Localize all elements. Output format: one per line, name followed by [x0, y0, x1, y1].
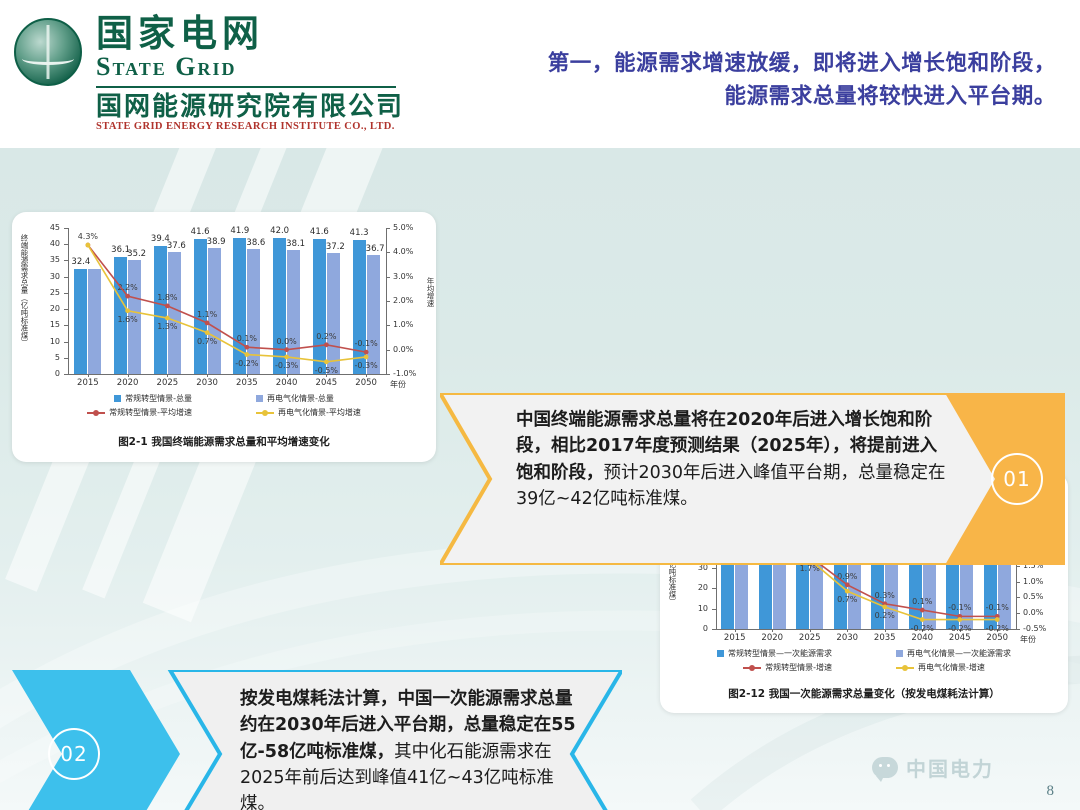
- x-axis-tick-label: 2045: [940, 634, 980, 643]
- legend-line-icon: [743, 667, 761, 669]
- y-axis-tick-label: 0: [38, 370, 60, 378]
- chart-bar-label: 41.9: [223, 227, 257, 236]
- chart-bar-electrification: [287, 250, 300, 374]
- chart-growth-label-electrification: -0.3%: [349, 362, 383, 370]
- chart-bar-label: 41.6: [302, 228, 336, 237]
- y-axis-tick-label: 35: [38, 256, 60, 264]
- chart-bar-conventional: [154, 246, 167, 374]
- y2-axis-tick: [1016, 582, 1020, 583]
- y2-axis-tick: [1016, 597, 1020, 598]
- chart-bar-label: 41.6: [183, 228, 217, 237]
- legend-row-bars: 常规转型情景—一次能源需求再电气化情景—一次能源需求: [660, 648, 1068, 659]
- legend-item[interactable]: 再电气化情景-总量: [256, 393, 334, 404]
- x-axis-tick-label: 2035: [865, 634, 905, 643]
- chart-bar-label: 32.4: [64, 258, 98, 267]
- y2-axis-tick-label: 0.0%: [393, 346, 419, 354]
- y2-axis-tick-label: 1.0%: [1023, 578, 1049, 586]
- y2-axis-tick-label: 5.0%: [393, 224, 419, 232]
- x-axis-tick-label: 2015: [715, 634, 755, 643]
- y-axis-tick-label: 20: [38, 305, 60, 313]
- legend-label: 再电气化情景-增速: [918, 662, 985, 673]
- y2-axis-tick: [386, 277, 390, 278]
- legend-line-icon: [256, 412, 274, 414]
- chart2-legend: 常规转型情景—一次能源需求再电气化情景—一次能源需求常规转型情景-增速再电气化情…: [660, 645, 1068, 673]
- y-axis-tick-label: 15: [38, 321, 60, 329]
- legend-label: 常规转型情景—一次能源需求: [728, 648, 832, 659]
- legend-item[interactable]: 再电气化情景—一次能源需求: [896, 648, 1011, 659]
- legend-line-icon: [87, 412, 105, 414]
- x-axis-tick: [885, 629, 886, 632]
- chart2-caption: 图2-12 我国一次能源需求总量变化（按发电煤耗法计算）: [660, 686, 1068, 701]
- legend-row-bars: 常规转型情景-总量再电气化情景-总量: [12, 393, 436, 404]
- chart1-legend: 常规转型情景-总量再电气化情景-总量常规转型情景-平均增速再电气化情景-平均增速: [12, 390, 436, 418]
- x-axis-tick-label: 2050: [977, 634, 1017, 643]
- logo-divider: [96, 86, 396, 88]
- x-axis-tick-label: 2020: [752, 634, 792, 643]
- chart-growth-label-conventional: 1.8%: [150, 294, 184, 302]
- legend-swatch-icon: [896, 650, 903, 657]
- y2-axis-tick: [386, 301, 390, 302]
- legend-item[interactable]: 常规转型情景-总量: [114, 393, 192, 404]
- y2-axis-tick: [386, 374, 390, 375]
- x-axis-tick: [772, 629, 773, 632]
- chart-bar-electrification: [247, 249, 260, 374]
- chart-growth-label-electrification: -0.2%: [905, 625, 939, 633]
- legend-label: 再电气化情景-平均增速: [278, 407, 361, 418]
- chart-bar-label: 38.9: [199, 238, 233, 247]
- y-axis-tick: [64, 228, 68, 229]
- y2-axis-tick: [1016, 613, 1020, 614]
- chart-growth-label-electrification: -0.3%: [270, 362, 304, 370]
- y2-axis-tick-label: -0.5%: [1023, 625, 1049, 633]
- chart-bar-label: 36.7: [358, 245, 392, 254]
- chart-growth-label-electrification: -0.5%: [309, 367, 343, 375]
- chart1-caption: 图2-1 我国终端能源需求总量和平均增速变化: [12, 434, 436, 449]
- chart-growth-label-electrification: 1.6%: [111, 316, 145, 324]
- x-axis-tick: [88, 374, 89, 377]
- chart-growth-label-conventional: 0.0%: [270, 338, 304, 346]
- logo-cn-name: 国家电网: [96, 14, 404, 53]
- state-grid-emblem-icon: [14, 18, 82, 86]
- y-axis-tick-label: 0: [686, 625, 708, 633]
- chart-bar-electrification: [168, 252, 181, 374]
- y-axis-tick: [712, 609, 716, 610]
- chart-growth-label-conventional: 4.3%: [71, 233, 105, 241]
- chart-growth-label-conventional: 0.3%: [868, 592, 902, 600]
- legend-item[interactable]: 常规转型情景—一次能源需求: [717, 648, 832, 659]
- chart-growth-label-conventional: 0.2%: [309, 333, 343, 341]
- page-title-line-1: 第一，能源需求增速放缓，即将进入增长饱和阶段，: [416, 48, 1056, 81]
- legend-swatch-icon: [114, 395, 121, 402]
- x-axis-tick: [366, 374, 367, 377]
- chart-card-terminal-energy: 051015202530354045-1.0%0.0%1.0%2.0%3.0%4…: [12, 212, 436, 462]
- chart-growth-label-conventional: -0.1%: [349, 340, 383, 348]
- y-axis-tick: [64, 309, 68, 310]
- chart-growth-label-conventional: 1.1%: [190, 311, 224, 319]
- x-axis-tick: [247, 374, 248, 377]
- y-axis-tick: [64, 293, 68, 294]
- page-number: 8: [1047, 783, 1055, 800]
- callout-02-badge: 02: [48, 728, 100, 780]
- y2-axis-tick: [386, 350, 390, 351]
- x-axis-tick: [735, 629, 736, 632]
- y2-axis-tick-label: -1.0%: [393, 370, 419, 378]
- chart-growth-label-electrification: 0.7%: [830, 596, 864, 604]
- callout-02[interactable]: 按发电煤耗法计算，中国一次能源需求总量约在2030年后进入平台期，总量稳定在55…: [12, 670, 622, 810]
- chart-bar-conventional: [233, 238, 246, 374]
- x-axis-tick-label: 2025: [790, 634, 830, 643]
- callout-01-text: 中国终端能源需求总量将在2020年后进入增长饱和阶段，相比2017年度预测结果（…: [502, 399, 952, 520]
- page-title: 第一，能源需求增速放缓，即将进入增长饱和阶段， 能源需求总量将较快进入平台期。: [416, 48, 1056, 113]
- y2-axis-tick-label: 1.0%: [393, 321, 419, 329]
- x-axis-tick-label: 2035: [227, 379, 267, 388]
- chart-growth-label-electrification: 1.7%: [793, 565, 827, 573]
- legend-item[interactable]: 常规转型情景-增速: [743, 662, 832, 673]
- legend-label: 常规转型情景-平均增速: [109, 407, 192, 418]
- chart-bar-label: 38.1: [279, 240, 313, 249]
- y-axis-tick-label: 5: [38, 354, 60, 362]
- legend-swatch-icon: [717, 650, 724, 657]
- watermark-label: 中国电力: [906, 753, 994, 782]
- x-axis-title: 年份: [390, 379, 406, 390]
- chart-growth-label-conventional: 0.1%: [230, 335, 264, 343]
- chart-growth-label-conventional: 0.9%: [830, 573, 864, 581]
- y-axis-tick: [712, 568, 716, 569]
- watermark: 中国电力: [872, 753, 994, 782]
- x-axis-tick-label: 2050: [346, 379, 386, 388]
- x-axis-tick: [810, 629, 811, 632]
- legend-label: 再电气化情景-总量: [267, 393, 334, 404]
- legend-line-icon: [896, 667, 914, 669]
- x-axis-tick-label: 2020: [108, 379, 148, 388]
- y-axis-tick: [64, 358, 68, 359]
- y-axis-tick: [64, 374, 68, 375]
- chart-bar-conventional: [74, 269, 87, 374]
- chart-growth-label-conventional: -0.1%: [980, 604, 1014, 612]
- chart-bar-conventional: [313, 239, 326, 374]
- chart-growth-label-conventional: 2.2%: [111, 284, 145, 292]
- chart-growth-label-electrification: -0.2%: [230, 360, 264, 368]
- logo-institute-en: STATE GRID ENERGY RESEARCH INSTITUTE CO.…: [96, 121, 404, 134]
- y2-axis-tick: [386, 228, 390, 229]
- x-axis-tick-label: 2045: [306, 379, 346, 388]
- y2-axis-tick-label: 2.0%: [393, 297, 419, 305]
- y-axis-tick-label: 45: [38, 224, 60, 232]
- slide-header: 国家电网 State Grid 国网能源研究院有限公司 STATE GRID E…: [0, 0, 1080, 148]
- x-axis-tick: [847, 629, 848, 632]
- legend-item[interactable]: 常规转型情景-平均增速: [87, 407, 192, 418]
- chart-growth-label-conventional: 0.1%: [905, 598, 939, 606]
- y2-axis-tick: [386, 325, 390, 326]
- x-axis-tick: [287, 374, 288, 377]
- chart-growth-label-electrification: 0.2%: [868, 612, 902, 620]
- callout-01[interactable]: 中国终端能源需求总量将在2020年后进入增长饱和阶段，相比2017年度预测结果（…: [440, 393, 1065, 565]
- y2-axis-tick: [1016, 629, 1020, 630]
- state-grid-logo: 国家电网 State Grid 国网能源研究院有限公司 STATE GRID E…: [14, 14, 404, 134]
- x-axis-tick: [167, 374, 168, 377]
- y-axis-tick: [64, 325, 68, 326]
- chart-bar-conventional: [273, 238, 286, 374]
- x-axis-tick: [207, 374, 208, 377]
- y-axis-tick: [712, 588, 716, 589]
- y-axis-tick: [64, 277, 68, 278]
- y-axis-tick-label: 10: [686, 605, 708, 613]
- callout-01-badge: 01: [991, 453, 1043, 505]
- y-axis-tick-label: 25: [38, 289, 60, 297]
- legend-label: 常规转型情景-总量: [125, 393, 192, 404]
- logo-institute-cn: 国网能源研究院有限公司: [96, 93, 404, 122]
- y2-axis-tick-label: 0.5%: [1023, 593, 1049, 601]
- chart-growth-label-electrification: -0.2%: [943, 625, 977, 633]
- chart-bar-conventional: [353, 240, 366, 374]
- chart-bar-label: 38.6: [239, 239, 273, 248]
- chart1-plot-area: 051015202530354045-1.0%0.0%1.0%2.0%3.0%4…: [12, 212, 436, 462]
- y2-axis-tick-label: 4.0%: [393, 248, 419, 256]
- y-axis-tick-label: 30: [38, 273, 60, 281]
- y2-axis-tick-label: 3.0%: [393, 273, 419, 281]
- y2-axis-tick-label: 0.0%: [1023, 609, 1049, 617]
- page-title-line-2: 能源需求总量将较快进入平台期。: [416, 81, 1056, 114]
- x-axis-tick-label: 2015: [68, 379, 108, 388]
- chart-bar-electrification: [327, 253, 340, 374]
- callout-02-text: 按发电煤耗法计算，中国一次能源需求总量约在2030年后进入平台期，总量稳定在55…: [226, 678, 592, 810]
- chart-growth-label-electrification: 1.3%: [150, 323, 184, 331]
- wechat-icon: [872, 757, 898, 778]
- y-axis-tick-label: 10: [38, 338, 60, 346]
- chart-bar-electrification: [367, 255, 380, 374]
- x-axis-tick-label: 2030: [827, 634, 867, 643]
- chart-bar-label: 41.3: [342, 229, 376, 238]
- x-axis-tick: [128, 374, 129, 377]
- legend-label: 常规转型情景-增速: [765, 662, 832, 673]
- y-axis-title: 终端能源需求总量（亿吨标准煤）: [20, 234, 29, 366]
- y2-axis-title: 年均增速: [426, 277, 435, 307]
- x-axis-tick-label: 2025: [147, 379, 187, 388]
- y2-axis-tick: [1016, 566, 1020, 567]
- chart-growth-label-electrification: 0.7%: [190, 338, 224, 346]
- x-axis-title: 年份: [1020, 634, 1036, 645]
- legend-label: 再电气化情景—一次能源需求: [907, 648, 1011, 659]
- chart-bar-label: 42.0: [263, 227, 297, 236]
- legend-row-lines: 常规转型情景-平均增速再电气化情景-平均增速: [12, 407, 436, 418]
- legend-item[interactable]: 再电气化情景-平均增速: [256, 407, 361, 418]
- chart-bar-electrification: [88, 269, 101, 374]
- chart-bar-label: 37.6: [159, 242, 193, 251]
- y-axis-line: [68, 228, 69, 374]
- x-axis-tick-label: 2030: [187, 379, 227, 388]
- x-axis-tick-label: 2040: [902, 634, 942, 643]
- chart-growth-label-conventional: -0.1%: [943, 604, 977, 612]
- y-axis-tick-label: 30: [686, 564, 708, 572]
- legend-swatch-icon: [256, 395, 263, 402]
- logo-text-block: 国家电网 State Grid 国网能源研究院有限公司 STATE GRID E…: [96, 14, 404, 134]
- y-axis-tick: [64, 244, 68, 245]
- y-axis-tick-label: 20: [686, 584, 708, 592]
- chart-growth-label-electrification: -0.2%: [980, 625, 1014, 633]
- legend-item[interactable]: 再电气化情景-增速: [896, 662, 985, 673]
- x-axis-tick-label: 2040: [267, 379, 307, 388]
- logo-en-name: State Grid: [96, 53, 404, 80]
- slide-body-background: 051015202530354045-1.0%0.0%1.0%2.0%3.0%4…: [0, 148, 1080, 810]
- y-axis-tick: [712, 629, 716, 630]
- chart-bar-conventional: [194, 239, 207, 374]
- y-axis-tick: [64, 342, 68, 343]
- chart-bar-label: 37.2: [318, 243, 352, 252]
- y-axis-tick-label: 40: [38, 240, 60, 248]
- chart-bar-label: 35.2: [120, 250, 154, 259]
- slide-canvas: 国家电网 State Grid 国网能源研究院有限公司 STATE GRID E…: [0, 0, 1080, 810]
- legend-row-lines: 常规转型情景-增速再电气化情景-增速: [660, 662, 1068, 673]
